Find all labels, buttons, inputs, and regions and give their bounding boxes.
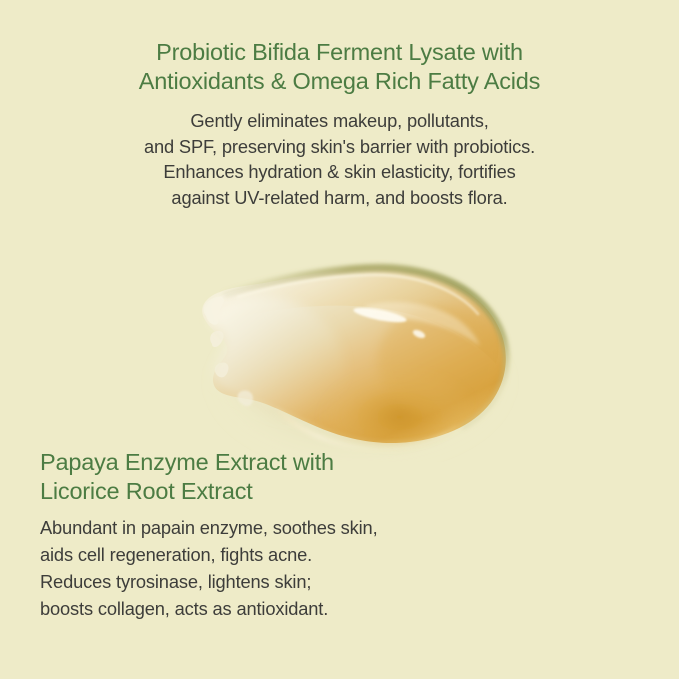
papaya-section-body: Abundant in papain enzyme, soothes skin,… <box>40 514 600 622</box>
probiotic-section-heading: Probiotic Bifida Ferment Lysate with Ant… <box>34 38 645 96</box>
gel-swatch-illustration <box>168 252 528 462</box>
product-ingredient-infographic: Probiotic Bifida Ferment Lysate with Ant… <box>0 0 679 679</box>
top-ingredient-section: Probiotic Bifida Ferment Lysate with Ant… <box>0 38 679 210</box>
cosmetic-gel-swatch-image <box>168 252 528 462</box>
bottom-ingredient-section: Papaya Enzyme Extract with Licorice Root… <box>40 448 600 622</box>
papaya-section-heading: Papaya Enzyme Extract with Licorice Root… <box>40 448 600 506</box>
probiotic-section-body: Gently eliminates makeup, pollutants, an… <box>34 108 645 210</box>
